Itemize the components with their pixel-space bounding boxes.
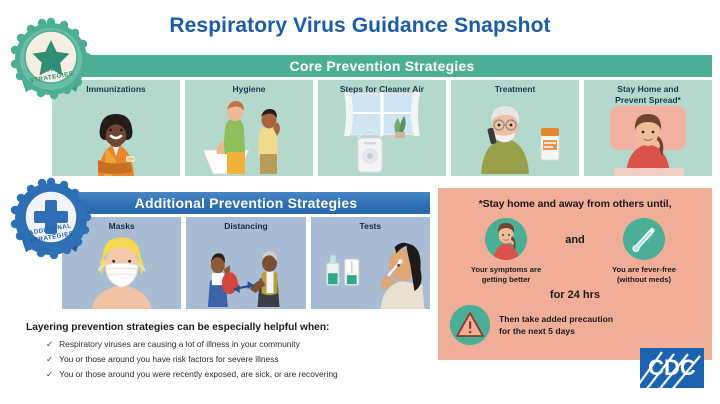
thermometer-icon [623,218,665,260]
plus-badge-icon [8,176,94,262]
list-item: ✓ Respiratory viruses are causing a lot … [26,338,426,350]
additional-prevention-banner: Additional Prevention Strategies [62,192,430,214]
core-card-stay-home[interactable]: Stay Home and Prevent Spread* [584,80,712,176]
list-item: ✓ You or those around you have risk fact… [26,353,426,365]
duration-label: for 24 hrs [438,289,712,301]
layering-section: Layering prevention strategies can be es… [26,322,426,383]
stay-home-panel: *Stay home and away from others until, [438,188,712,360]
stay-home-heading: *Stay home and away from others until, [438,198,712,210]
condition-symptoms: Your symptoms are getting better [458,218,554,285]
layering-heading: Layering prevention strategies can be es… [26,322,426,333]
person-recovering-icon [485,218,527,260]
additional-strategies-row: Masks [62,217,430,309]
list-item-label: You or those around you were recently ex… [59,368,338,380]
additional-card-distancing[interactable]: Distancing [186,217,305,309]
check-icon: ✓ [46,368,53,380]
core-card-cleaner-air[interactable]: Steps for Cleaner Air [318,80,446,176]
core-card-label: Hygiene [230,84,267,95]
core-prevention-banner: Core Prevention Strategies [52,55,712,77]
check-icon: ✓ [46,353,53,365]
cdc-logo: CDC [640,348,704,388]
list-item-label: You or those around you have risk factor… [59,353,278,365]
list-item-label: Respiratory viruses are causing a lot of… [59,338,300,350]
core-card-label: Treatment [493,84,538,95]
condition-fever-free: You are fever-free (without meds) [596,218,692,285]
core-card-treatment[interactable]: Treatment [451,80,579,176]
additional-banner-label: Additional Prevention Strategies [135,195,358,211]
warning-triangle-icon [450,305,490,345]
precaution-row: Then take added precaution for the next … [438,305,712,345]
additional-card-tests[interactable]: Tests [311,217,430,309]
additional-strategies-badge: ADDITIONALSTRATEGIES [8,176,94,262]
page-title: Respiratory Virus Guidance Snapshot [0,14,720,38]
additional-card-label: Tests [358,221,384,232]
core-card-label: Stay Home and Prevent Spread* [613,84,683,106]
star-badge-icon [8,16,94,102]
list-item: ✓ You or those around you were recently … [26,368,426,380]
core-card-label: Steps for Cleaner Air [338,84,426,95]
core-banner-label: Core Prevention Strategies [290,58,475,74]
core-card-hygiene[interactable]: Hygiene [185,80,313,176]
stay-home-conditions: Your symptoms are getting better and [438,218,712,285]
check-icon: ✓ [46,338,53,350]
infographic-page: Respiratory Virus Guidance Snapshot [0,0,720,404]
core-strategies-row: Immunizations [52,80,712,176]
additional-card-label: Masks [107,221,137,232]
precaution-text: Then take added precaution for the next … [499,313,613,337]
cdc-logo-text: CDC [648,355,696,380]
core-strategies-badge: CORESTRATEGIES [8,16,94,102]
condition-fever-free-text: You are fever-free (without meds) [596,265,692,285]
additional-card-label: Distancing [222,221,269,232]
conjunction-and: and [558,218,592,246]
condition-symptoms-text: Your symptoms are getting better [458,265,554,285]
